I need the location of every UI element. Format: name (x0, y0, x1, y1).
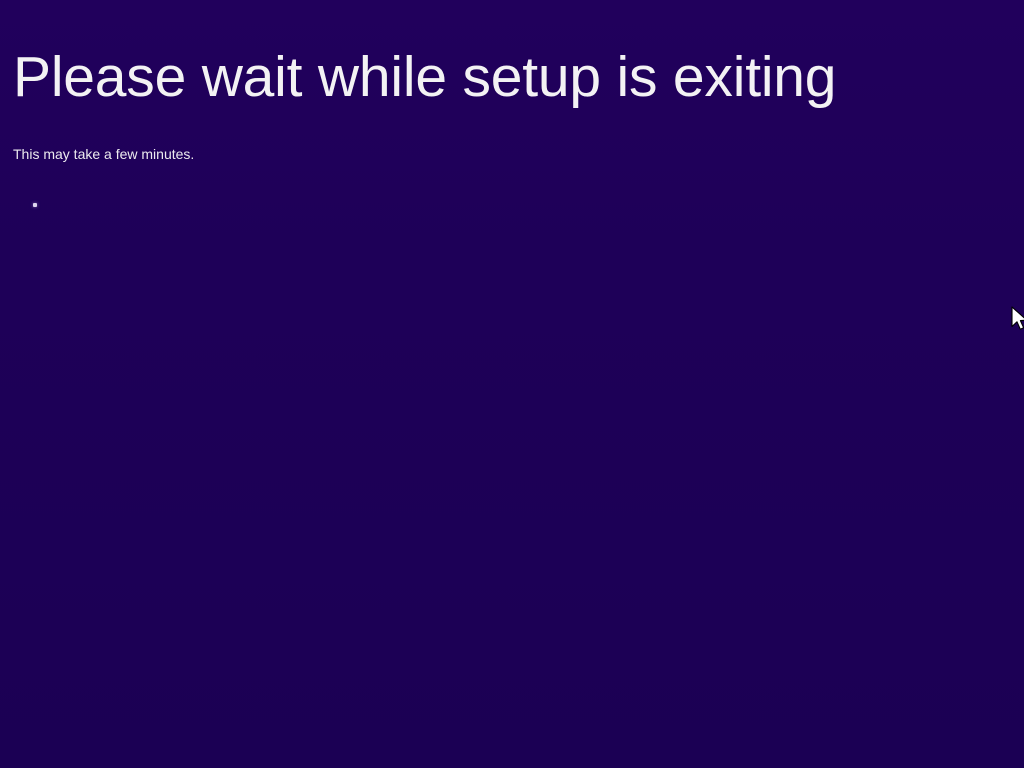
page-subtitle: This may take a few minutes. (13, 146, 194, 164)
setup-screen: Please wait while setup is exiting This … (0, 0, 1024, 768)
page-title: Please wait while setup is exiting (13, 46, 836, 110)
arrow-pointer-icon (1011, 306, 1024, 334)
spinner-dot-icon (33, 203, 37, 207)
progress-spinner (14, 186, 56, 224)
